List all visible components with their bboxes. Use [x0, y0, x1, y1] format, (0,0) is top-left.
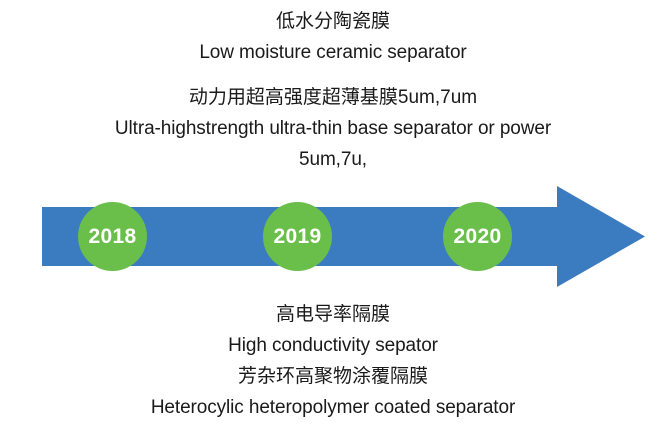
bottom-text-line-4: Heterocylic heteropolymer coated separat… — [0, 392, 666, 423]
bottom-text-line-1: 高电导率隔膜 — [0, 299, 666, 330]
timeline-diagram: 低水分陶瓷膜 Low moisture ceramic separator 动力… — [0, 0, 666, 439]
top-text-line-2: Low moisture ceramic separator — [0, 37, 666, 68]
bottom-text-line-2: High conductivity sepator — [0, 330, 666, 361]
timeline-marker-2018-label: 2018 — [89, 226, 137, 247]
top-text-line-1: 低水分陶瓷膜 — [0, 6, 666, 37]
top-text-line-3: 动力用超高强度超薄基膜5um,7um — [0, 82, 666, 113]
bottom-text-line-3: 芳杂环高聚物涂覆隔膜 — [0, 361, 666, 392]
timeline-marker-2020[interactable]: 2020 — [443, 202, 512, 271]
bottom-text-block: 高电导率隔膜 High conductivity sepator 芳杂环高聚物涂… — [0, 299, 666, 423]
timeline-marker-2019-label: 2019 — [274, 226, 322, 247]
top-text-line-5: 5um,7u, — [0, 144, 666, 175]
timeline-marker-2020-label: 2020 — [454, 226, 502, 247]
timeline-marker-2019[interactable]: 2019 — [263, 202, 332, 271]
top-text-block: 低水分陶瓷膜 Low moisture ceramic separator 动力… — [0, 6, 666, 175]
timeline-marker-2018[interactable]: 2018 — [78, 202, 147, 271]
top-text-line-4: Ultra-highstrength ultra-thin base separ… — [0, 113, 666, 144]
top-text-spacer — [0, 68, 666, 82]
